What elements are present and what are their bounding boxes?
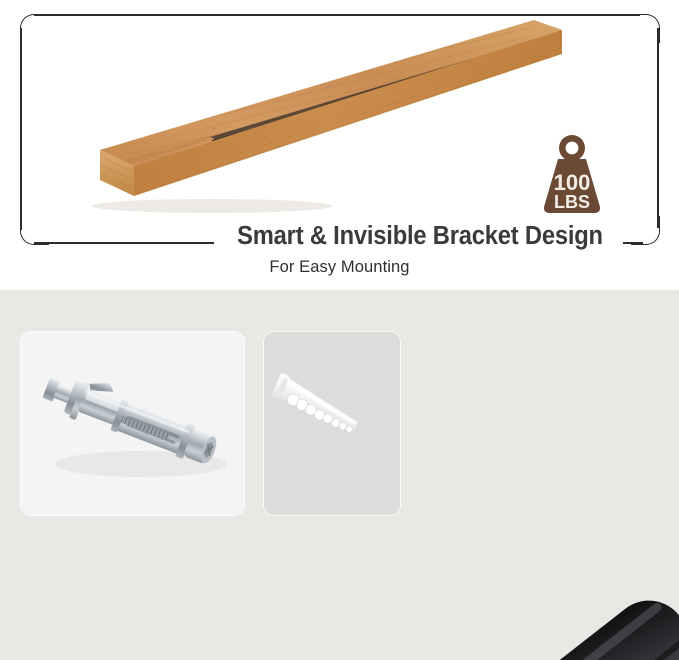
frame-corner-top-left xyxy=(20,14,49,43)
wood-shelf-image xyxy=(62,18,572,218)
frame-corner-top-right xyxy=(631,14,660,43)
frame-corner-bottom-right xyxy=(631,216,660,245)
page-title: Smart & Invisible Bracket Design xyxy=(232,222,608,251)
bottom-feature-panel: Upgrade Metal Anchors heavy-duty Made of… xyxy=(0,290,679,660)
weight-capacity-badge: 100 LBS xyxy=(538,133,606,216)
product-infographic: 100 LBS Smart & Invisible Bracket Design… xyxy=(0,0,679,660)
top-feature-panel: 100 LBS Smart & Invisible Bracket Design… xyxy=(0,0,679,290)
metal-anchor-card xyxy=(21,332,244,515)
plastic-anchor-card xyxy=(264,332,400,515)
frame-top-edge xyxy=(34,14,640,16)
frame-bottom-left-edge xyxy=(34,242,214,244)
frame-left-edge xyxy=(20,28,22,230)
black-iron-pipe-image xyxy=(395,580,679,660)
page-subtitle: For Easy Mounting xyxy=(0,258,679,277)
weight-unit-text: LBS xyxy=(554,192,590,212)
frame-corner-bottom-left xyxy=(20,216,49,245)
frame-right-edge xyxy=(657,28,659,228)
